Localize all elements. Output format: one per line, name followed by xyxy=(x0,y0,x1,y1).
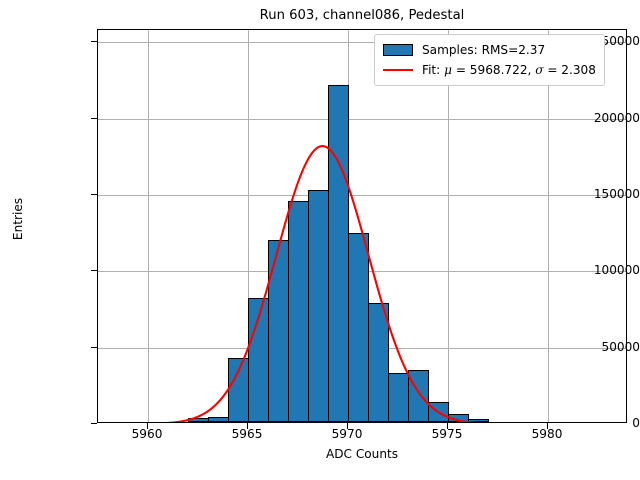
x-tick-label: 5970 xyxy=(307,428,387,440)
y-tick-mark xyxy=(91,41,97,42)
legend-swatch-fit-icon xyxy=(383,69,413,71)
y-tick-label: 200000 xyxy=(552,112,640,124)
legend-swatch-samples-icon xyxy=(383,44,413,56)
chart-legend: Samples: RMS=2.37 Fit: μ = 5968.722, σ =… xyxy=(374,34,605,86)
y-tick-label: 150000 xyxy=(552,188,640,200)
y-tick-label: 50000 xyxy=(552,341,640,353)
y-tick-mark xyxy=(91,118,97,119)
legend-label-fit: Fit: μ = 5968.722, σ = 2.308 xyxy=(422,63,596,77)
x-tick-mark xyxy=(147,423,148,429)
y-tick-label: 100000 xyxy=(552,264,640,276)
legend-entry-fit: Fit: μ = 5968.722, σ = 2.308 xyxy=(383,60,596,80)
x-tick-label: 5975 xyxy=(407,428,487,440)
x-tick-label: 5980 xyxy=(507,428,587,440)
x-tick-mark xyxy=(347,423,348,429)
y-tick-mark xyxy=(91,194,97,195)
y-tick-mark xyxy=(91,347,97,348)
legend-label-samples: Samples: RMS=2.37 xyxy=(422,43,545,57)
chart-figure: Run 603, channel086, Pedestal 0500001000… xyxy=(0,0,640,480)
x-tick-label: 5960 xyxy=(107,428,187,440)
gaussian-fit-curve xyxy=(98,30,627,423)
y-tick-mark xyxy=(91,270,97,271)
x-tick-label: 5965 xyxy=(207,428,287,440)
legend-entry-samples: Samples: RMS=2.37 xyxy=(383,40,596,60)
x-tick-mark xyxy=(247,423,248,429)
x-tick-mark xyxy=(547,423,548,429)
chart-title: Run 603, channel086, Pedestal xyxy=(97,7,627,25)
y-axis-label: Entries xyxy=(11,139,25,299)
x-tick-mark xyxy=(447,423,448,429)
legend-fit-prefix: Fit: xyxy=(422,63,444,77)
x-axis-label: ADC Counts xyxy=(97,447,627,461)
y-tick-mark xyxy=(91,423,97,424)
plot-area xyxy=(97,29,627,423)
legend-fit-sigma-value: = 2.308 xyxy=(543,63,595,77)
legend-fit-mu-symbol: μ xyxy=(444,63,452,77)
legend-fit-mu-value: = 5968.722, xyxy=(452,63,535,77)
